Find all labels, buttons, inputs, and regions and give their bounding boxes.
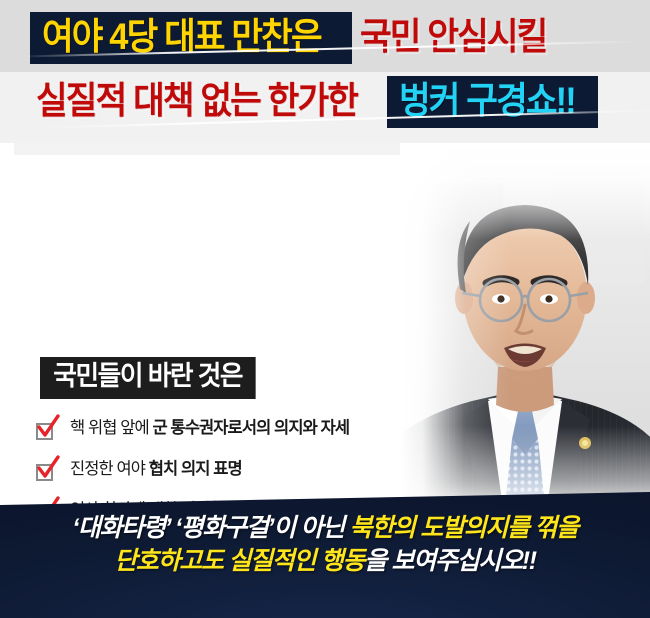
list-item: 핵 위협 앞에 군 통수권자로서의 의지와 자세: [36, 419, 506, 441]
headline-2-red-wrap: 실질적 대책 없는 한가한: [28, 76, 387, 128]
banner-line-2-white: 을 보여주십시오!!: [364, 547, 536, 575]
headline-1-yellow-text: 여야 4당 대표 만찬은: [42, 18, 321, 55]
list-item-plain: 핵 위협 앞에: [70, 419, 152, 437]
list-item-plain: 진정한 여야: [70, 460, 149, 478]
banner-line-1-white: ‘대화타령’ ‘평화구걸’이 아닌: [72, 514, 349, 542]
headline-1-navy-box: 여야 4당 대표 만찬은: [30, 12, 352, 64]
section-heading: 국민들이 바란 것은: [40, 357, 255, 399]
list-item: 진정한 여야 협치 의지 표명: [36, 460, 506, 482]
bottom-message-banner: ‘대화타령’ ‘평화구걸’이 아닌 북한의 도발의지를 꺾을 단호하고도 실질적…: [0, 488, 650, 618]
list-item-bold: 군 통수권자로서의 의지와 자세: [152, 419, 349, 437]
banner-line-1-yellow: 북한의 도발의지를 꺾을: [350, 514, 578, 542]
checkbox-checked-icon: [36, 421, 56, 441]
headline-2-navy-box: 벙커 구경쇼!!: [387, 76, 598, 128]
headline-1-red-wrap: 국민 안심시킬: [352, 12, 567, 64]
list-item-bold: 협치 의지 표명: [149, 460, 242, 478]
main-content-panel: 국민들이 바란 것은 핵 위협 앞에 군 통수권자로서의 의지와 자세: [0, 143, 650, 515]
headline-2-cyan-text: 벙커 구경쇼!!: [399, 82, 575, 119]
headline-2-red-text: 실질적 대책 없는 한가한: [36, 82, 357, 119]
headline-1-red-text: 국민 안심시킬: [360, 18, 546, 55]
list-item-text: 핵 위협 앞에 군 통수권자로서의 의지와 자세: [70, 419, 349, 438]
poster-root: 여야 4당 대표 만찬은 국민 안심시킬 실질적 대책 없는 한가한 벙커 구경…: [0, 0, 650, 618]
list-item-text: 진정한 여야 협치 의지 표명: [70, 460, 242, 479]
headline-line-1: 여야 4당 대표 만찬은 국민 안심시킬: [30, 12, 566, 64]
headline-line-2: 실질적 대책 없는 한가한 벙커 구경쇼!!: [28, 76, 598, 128]
banner-text-block: ‘대화타령’ ‘평화구걸’이 아닌 북한의 도발의지를 꺾을 단호하고도 실질적…: [0, 512, 650, 578]
headline-header: 여야 4당 대표 만찬은 국민 안심시킬 실질적 대책 없는 한가한 벙커 구경…: [0, 0, 650, 143]
banner-line-2: 단호하고도 실질적인 행동을 보여주십시오!!: [0, 545, 650, 578]
banner-line-1: ‘대화타령’ ‘평화구걸’이 아닌 북한의 도발의지를 꺾을: [0, 512, 650, 545]
banner-line-2-yellow: 단호하고도 실질적인 행동: [114, 547, 364, 575]
checkbox-checked-icon: [36, 462, 56, 482]
